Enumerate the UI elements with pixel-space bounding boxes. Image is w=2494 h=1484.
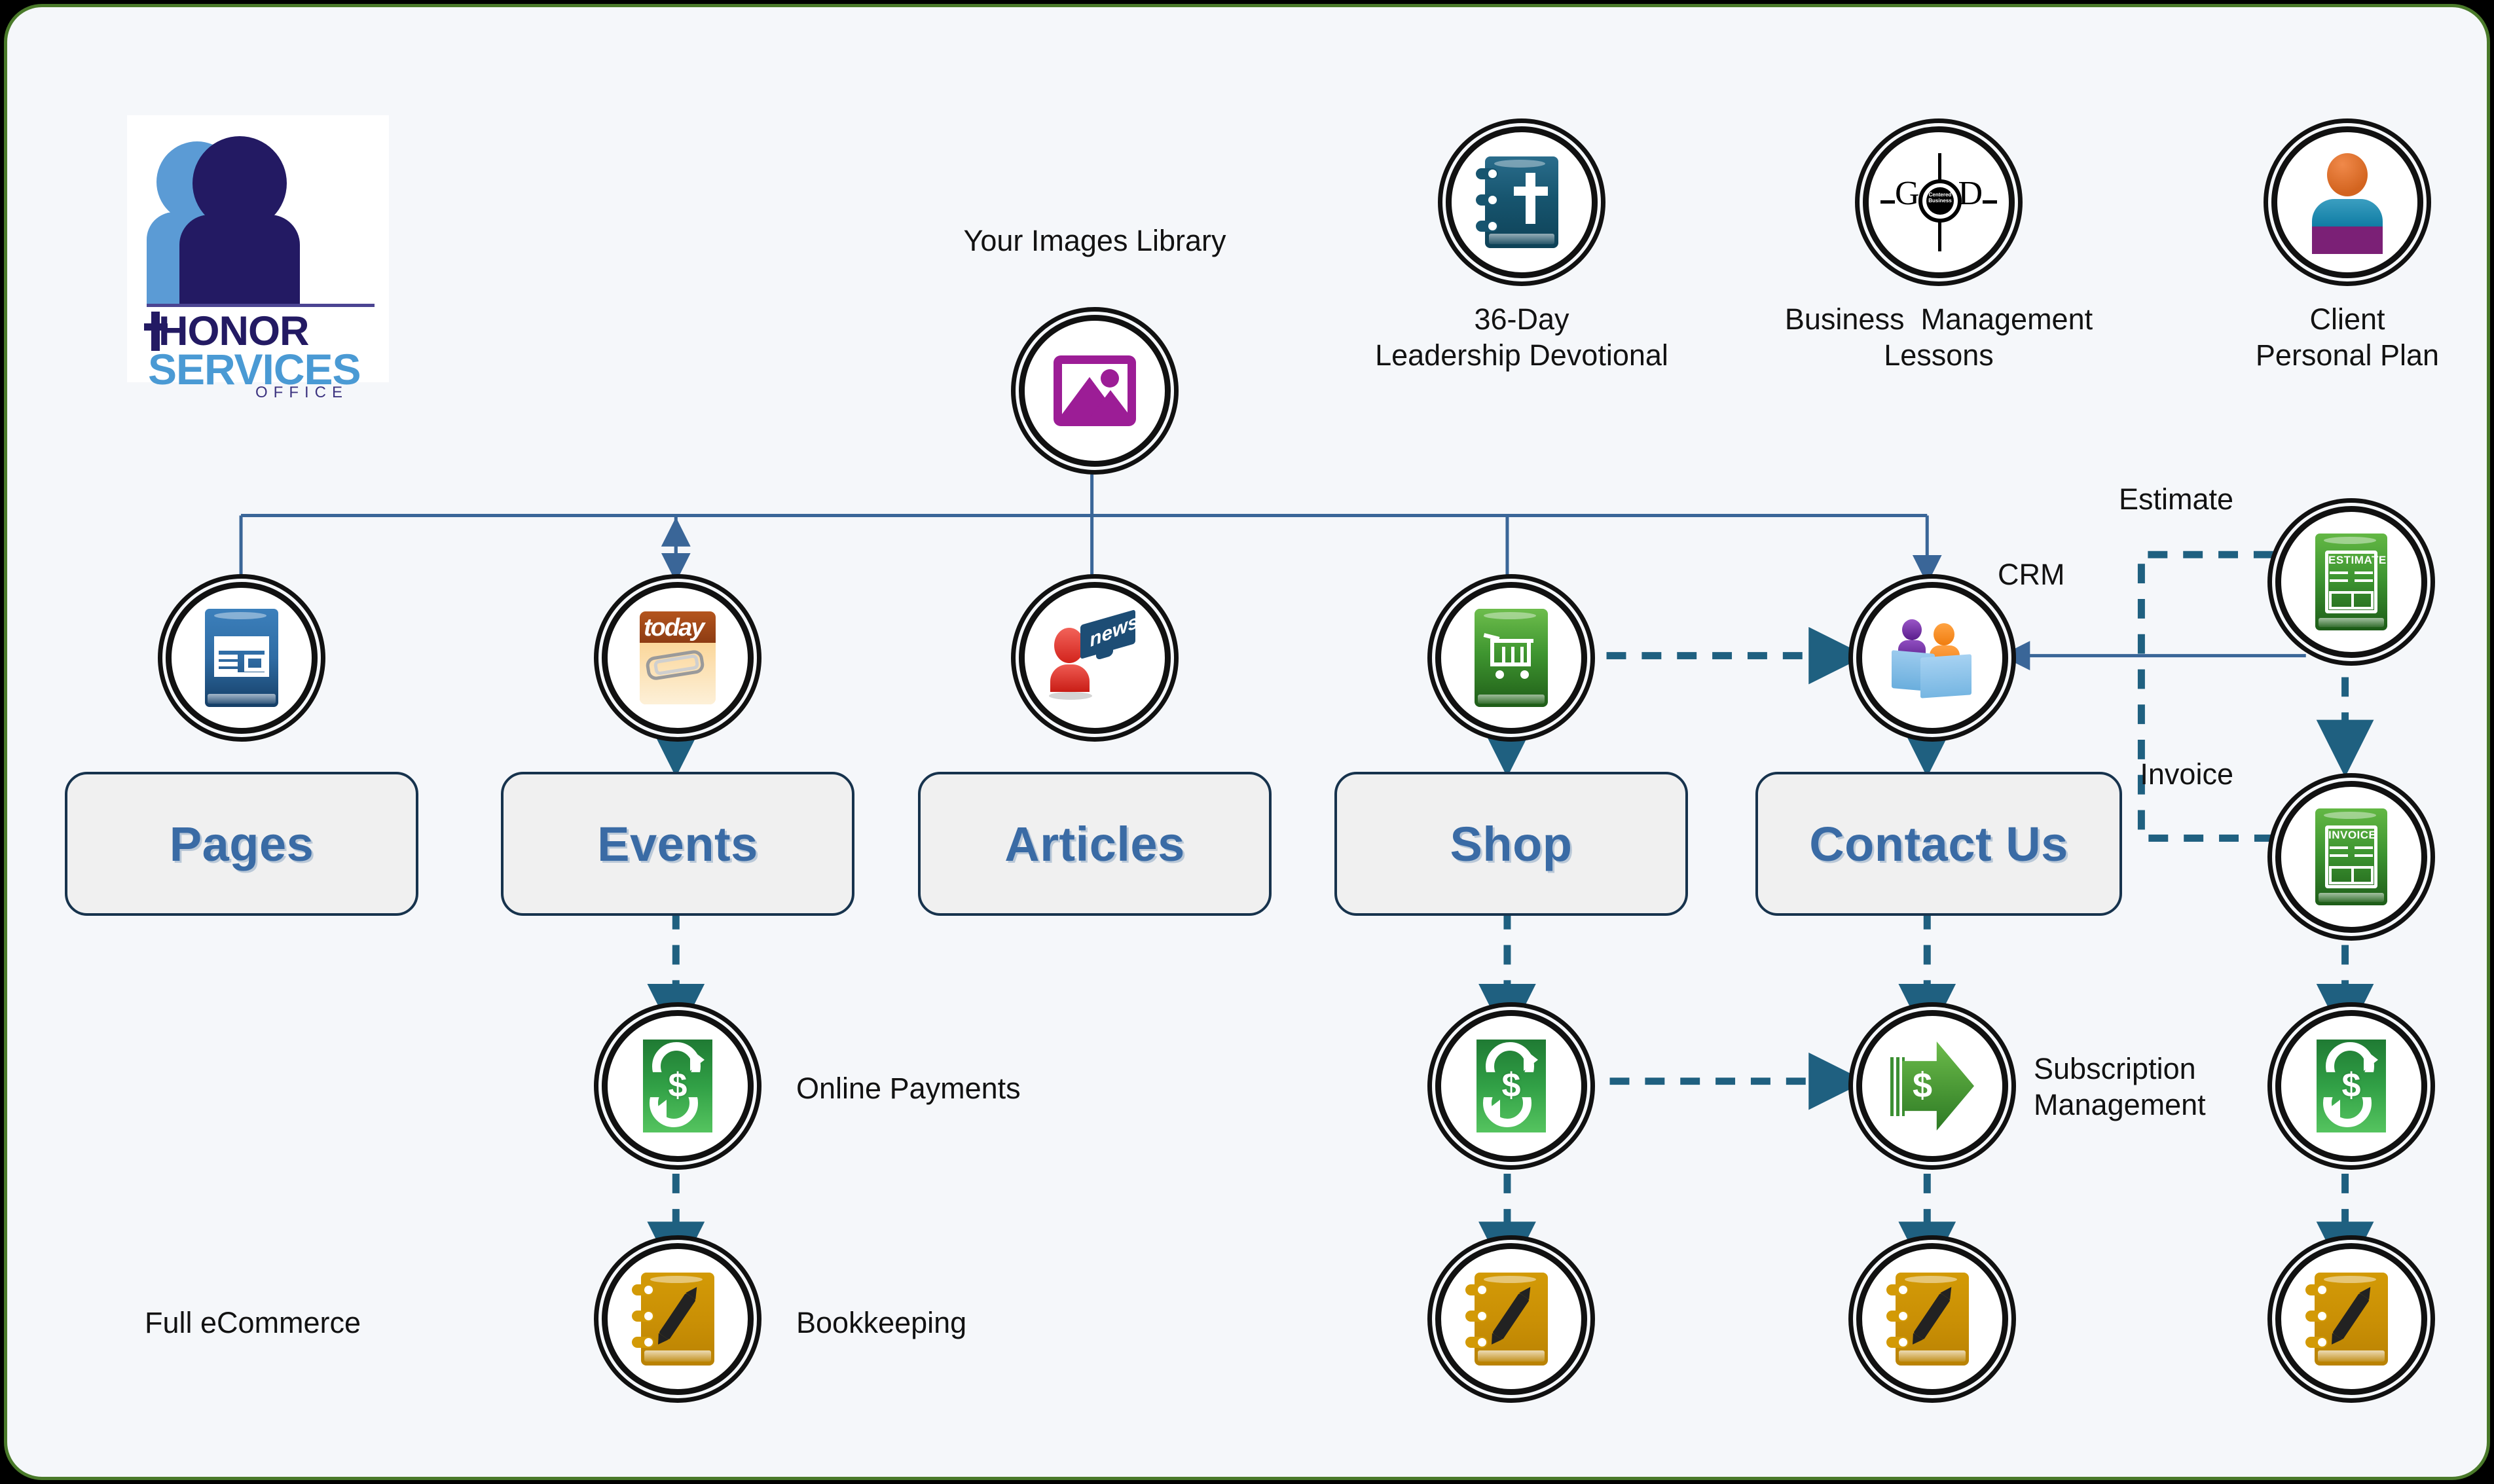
notebook-foot — [2318, 1350, 2385, 1362]
payment-arrowhead-bottom — [1486, 1100, 1500, 1122]
payment-arrowhead-bottom — [2326, 1100, 2340, 1122]
pill-shop[interactable]: Shop — [1334, 772, 1688, 916]
client-plan-label: Client Personal Plan — [2151, 302, 2490, 374]
cart-slat-3 — [1520, 647, 1524, 665]
shop-icon-badge[interactable] — [1435, 582, 1587, 734]
honor-services-office-logo: HONOR SERVICES OFFICE — [127, 115, 389, 382]
notebook-pencil — [659, 1293, 696, 1340]
pill-pages-label: Pages — [170, 816, 314, 872]
avatar-head — [2327, 153, 2368, 196]
book-ring-1 — [1476, 168, 1498, 179]
cart-wheel-right — [1520, 670, 1529, 679]
notebook-ring-2 — [1886, 1311, 1909, 1322]
pill-contact-us-label: Contact Us — [1809, 816, 2068, 872]
invoice-icon-badge[interactable]: INVOICE — [2275, 781, 2427, 933]
logo-divider — [147, 304, 375, 307]
notebook-pencil — [1913, 1293, 1951, 1340]
notebook-ring-1 — [1886, 1284, 1909, 1295]
payment-arrowhead-top — [690, 1049, 705, 1071]
news-person-shadow — [1049, 692, 1092, 700]
bookkeeping-icon-badge[interactable] — [602, 1243, 754, 1395]
pill-articles[interactable]: Articles — [918, 772, 1272, 916]
notebook-ring-2 — [2305, 1311, 2328, 1322]
online-payment-icon: $ — [643, 1040, 712, 1132]
shop-payments-icon-badge[interactable]: $ — [1435, 1010, 1587, 1162]
notebook-shine — [1905, 1276, 1957, 1283]
payment-arrowhead-top — [1524, 1049, 1538, 1071]
pages-thumb — [244, 655, 265, 672]
pill-articles-label: Articles — [1004, 816, 1184, 872]
cart-slat-2 — [1511, 647, 1514, 665]
estimate-icon-badge[interactable]: ESTIMATE — [2275, 506, 2427, 658]
invoice-document-icon: INVOICE — [2315, 808, 2387, 905]
news-word: news — [1088, 611, 1140, 652]
pill-events[interactable]: Events — [501, 772, 854, 916]
invoice-line-2 — [2355, 846, 2373, 849]
estimate-line-2 — [2355, 571, 2373, 574]
diagram-canvas: HONOR SERVICES OFFICE Your Images Librar… — [4, 4, 2490, 1480]
bible-book-icon — [1485, 156, 1558, 248]
invoice-title: INVOICE — [2328, 829, 2374, 842]
crm-icon-badge[interactable] — [1856, 582, 2008, 734]
notebook-ring-3 — [632, 1337, 654, 1348]
invoice-grid — [2329, 866, 2374, 884]
invoice-label: Invoice — [1971, 757, 2233, 793]
subscription-management-icon: $ — [1890, 1041, 1974, 1131]
online-payment-icon-shop: $ — [1476, 1040, 1546, 1132]
bookkeeping-notebook-icon — [641, 1273, 714, 1366]
pill-pages[interactable]: Pages — [65, 772, 418, 916]
payment-dollar-sign: $ — [2317, 1068, 2386, 1102]
invoice-foot — [2319, 893, 2384, 902]
pages-header-bar — [218, 640, 265, 651]
images-library-icon-badge[interactable] — [1019, 315, 1171, 467]
cart-slat-1 — [1502, 647, 1505, 665]
logo-person-dark-body — [179, 215, 300, 305]
pages-line-3 — [218, 669, 238, 674]
god-letter-g: G — [1895, 177, 1920, 211]
bookkeeping-notebook-icon-shop — [1475, 1273, 1548, 1366]
shop-foot — [1478, 695, 1545, 704]
pill-contact-us[interactable]: Contact Us — [1755, 772, 2122, 916]
online-payments-label: Online Payments — [796, 1071, 1189, 1107]
crm-label: CRM — [1998, 557, 2194, 593]
crosshair-tick-left — [1880, 200, 1895, 204]
notebook-pencil — [2332, 1293, 2370, 1340]
notebook-ring-1 — [1465, 1284, 1488, 1295]
today-calendar-icon: today — [640, 611, 716, 704]
news-person-body — [1050, 664, 1090, 692]
notebook-ring-2 — [1465, 1311, 1488, 1322]
notebook-shine — [650, 1276, 703, 1283]
book-cross-vertical — [1526, 173, 1535, 224]
notebook-ring-1 — [2305, 1284, 2328, 1295]
pages-icon-badge[interactable] — [166, 582, 318, 734]
bookkeeping-label: Bookkeeping — [796, 1305, 1189, 1341]
book-ring-2 — [1476, 194, 1498, 206]
shopping-cart-icon — [1475, 609, 1548, 707]
estimate-grid — [2329, 591, 2374, 609]
images-library-label: Your Images Library — [898, 223, 1291, 259]
god-letter-d: D — [1958, 177, 1983, 211]
pill-shop-label: Shop — [1450, 816, 1573, 872]
cart-basket — [1490, 643, 1531, 666]
full-ecommerce-label: Full eCommerce — [145, 1305, 538, 1341]
notebook-shine — [1484, 1276, 1536, 1283]
estimate-line-1 — [2330, 571, 2348, 574]
payment-dollar-sign: $ — [643, 1068, 712, 1102]
payment-arrowhead-top — [2364, 1049, 2378, 1071]
invoice-line-4 — [2355, 854, 2373, 857]
payment-arrowhead-bottom — [652, 1100, 667, 1122]
subscription-icon-badge[interactable]: $ — [1856, 1010, 2008, 1162]
pages-line-2 — [218, 662, 238, 666]
book-cross-horizontal — [1514, 187, 1548, 196]
image-library-mountain-right — [1090, 390, 1128, 418]
book-shine — [1494, 160, 1545, 168]
estimate-line-4 — [2355, 579, 2373, 582]
invoice-line-3 — [2330, 854, 2348, 857]
notebook-ring-2 — [632, 1311, 654, 1322]
invoice-payments-icon-badge[interactable]: $ — [2275, 1010, 2427, 1162]
notebook-ring-3 — [1465, 1337, 1488, 1348]
business-lessons-label: Business Management Lessons — [1742, 302, 2135, 374]
online-payment-icon-invoice: $ — [2317, 1040, 2386, 1132]
shop-shine — [1484, 612, 1536, 619]
image-library-inner — [1062, 364, 1128, 418]
notebook-foot — [1478, 1350, 1545, 1362]
events-icon-badge[interactable]: today — [602, 582, 754, 734]
book-ring-3 — [1476, 221, 1498, 232]
bookkeeping-notebook-icon-contact — [1896, 1273, 1969, 1366]
calendar-header: today — [640, 611, 716, 643]
estimate-line-3 — [2330, 579, 2348, 582]
devotional-label: 36-Day Leadership Devotional — [1325, 302, 1718, 374]
notebook-ring-1 — [632, 1284, 654, 1295]
logo-word-office: OFFICE — [255, 384, 348, 402]
invoice-line-1 — [2330, 846, 2348, 849]
avatar-torso — [2312, 199, 2383, 228]
crosshair-tick-right — [1983, 200, 1997, 204]
bookkeeping-notebook-icon-invoice — [2315, 1273, 2388, 1366]
contact-bookkeeping-icon-badge[interactable] — [1856, 1243, 2008, 1395]
estimate-foot — [2319, 618, 2384, 627]
centered-business-text: CenteredBusiness — [1926, 192, 1954, 204]
estimate-label: Estimate — [1971, 482, 2233, 518]
devotional-icon-badge[interactable] — [1446, 126, 1598, 278]
notebook-foot — [644, 1350, 711, 1362]
online-payments-icon-badge[interactable]: $ — [602, 1010, 754, 1162]
notebook-foot — [1899, 1350, 1966, 1362]
notebook-pencil — [1492, 1293, 1530, 1340]
estimate-title: ESTIMATE — [2328, 554, 2374, 567]
news-megaphone-icon: news — [1049, 616, 1141, 700]
pages-foot — [208, 694, 276, 704]
crm-folder-front — [1920, 654, 1971, 698]
crm-person-purple-head — [1902, 619, 1922, 640]
estimate-shine — [2324, 537, 2376, 544]
subscription-dollar-sign: $ — [1902, 1068, 1943, 1103]
image-library-icon — [1054, 355, 1136, 426]
calendar-today-text: today — [644, 614, 703, 642]
articles-icon-badge[interactable]: news — [1019, 582, 1171, 734]
cart-wheel-left — [1495, 670, 1504, 679]
book-foot — [1489, 234, 1554, 244]
crm-person-orange-head — [1934, 623, 1954, 645]
pill-events-label: Events — [597, 816, 758, 872]
god-centered-business-icon: G D CenteredBusiness — [1880, 153, 1997, 251]
estimate-document-icon: ESTIMATE — [2315, 534, 2387, 630]
pages-shine — [214, 612, 266, 619]
notebook-ring-3 — [2305, 1337, 2328, 1348]
crm-contacts-icon — [1886, 615, 1978, 700]
notebook-shine — [2324, 1276, 2376, 1283]
payment-dollar-sign: $ — [1476, 1068, 1546, 1102]
pages-document-icon — [205, 609, 278, 707]
person-avatar-icon — [2305, 153, 2390, 251]
shop-bookkeeping-icon-badge[interactable] — [1435, 1243, 1587, 1395]
pages-line-1 — [218, 655, 238, 659]
business-lessons-icon-badge[interactable]: G D CenteredBusiness — [1863, 126, 2015, 278]
invoice-bookkeeping-icon-badge[interactable] — [2275, 1243, 2427, 1395]
client-plan-icon-badge[interactable] — [2271, 126, 2423, 278]
notebook-ring-3 — [1886, 1337, 1909, 1348]
invoice-shine — [2324, 812, 2376, 819]
avatar-lower — [2312, 226, 2383, 254]
